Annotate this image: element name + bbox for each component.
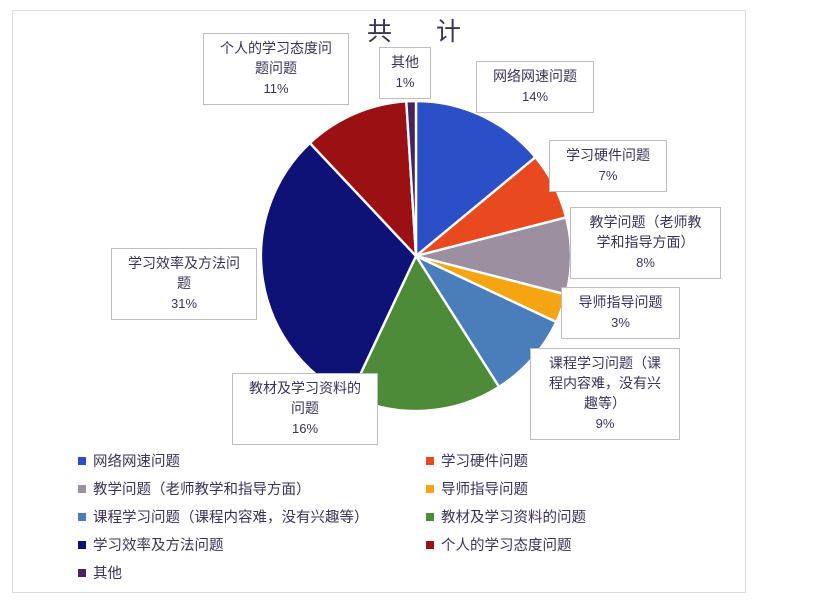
data-label-percent: 7% — [555, 166, 661, 186]
legend-row: 教学问题（老师教学和指导方面）导师指导问题 — [78, 478, 698, 501]
data-label-percent: 31% — [117, 294, 251, 314]
label-network-speed[interactable]: 网络网速问题14% — [476, 61, 594, 113]
legend-label: 学习效率及方法问题 — [93, 534, 224, 555]
label-materials[interactable]: 教材及学习资料的 问题16% — [232, 373, 378, 445]
legend-item[interactable]: 课程学习问题（课程内容难，没有兴趣等） — [78, 506, 426, 527]
data-label-text: 课程学习问题（课 程内容难，没有兴 趣等） — [549, 355, 661, 411]
data-label-percent: 1% — [385, 73, 425, 93]
legend-label: 个人的学习态度问题 — [441, 534, 572, 555]
data-label-text: 学习效率及方法问 题 — [128, 255, 240, 291]
data-label-percent: 16% — [238, 419, 372, 439]
legend-label: 教材及学习资料的问题 — [441, 506, 586, 527]
data-label-percent: 8% — [576, 253, 715, 273]
legend-label: 其他 — [93, 562, 122, 583]
legend-swatch-icon — [78, 541, 86, 549]
label-teaching[interactable]: 教学问题（老师教 学和指导方面）8% — [570, 207, 721, 279]
data-label-text: 学习硬件问题 — [566, 147, 650, 163]
legend-swatch-icon — [78, 485, 86, 493]
data-label-percent: 11% — [209, 79, 343, 99]
data-label-text: 个人的学习态度问 题问题 — [220, 40, 332, 76]
legend-swatch-icon — [78, 513, 86, 521]
data-label-percent: 9% — [536, 414, 674, 434]
data-label-percent: 3% — [567, 313, 674, 333]
pie-chart-container: 共 计 个人的学习态度问 题问题11%其他1%网络网速问题14%学习硬件问题7%… — [0, 0, 828, 608]
pie-svg — [260, 100, 572, 412]
legend-row: 其他 — [78, 562, 698, 585]
legend-swatch-icon — [78, 569, 86, 577]
legend-item[interactable]: 学习硬件问题 — [426, 450, 528, 471]
legend-swatch-icon — [426, 485, 434, 493]
chart-legend: 网络网速问题学习硬件问题教学问题（老师教学和指导方面）导师指导问题课程学习问题（… — [78, 450, 698, 590]
legend-row: 学习效率及方法问题个人的学习态度问题 — [78, 534, 698, 557]
legend-swatch-icon — [426, 457, 434, 465]
legend-item[interactable]: 学习效率及方法问题 — [78, 534, 426, 555]
data-label-text: 导师指导问题 — [579, 294, 663, 310]
legend-item[interactable]: 导师指导问题 — [426, 478, 528, 499]
label-personal-attitude[interactable]: 个人的学习态度问 题问题11% — [203, 33, 349, 105]
label-hardware[interactable]: 学习硬件问题7% — [549, 140, 667, 192]
label-course[interactable]: 课程学习问题（课 程内容难，没有兴 趣等）9% — [530, 348, 680, 440]
legend-swatch-icon — [426, 513, 434, 521]
legend-label: 导师指导问题 — [441, 478, 528, 499]
legend-swatch-icon — [426, 541, 434, 549]
data-label-text: 网络网速问题 — [493, 68, 577, 84]
label-efficiency[interactable]: 学习效率及方法问 题31% — [111, 248, 257, 320]
legend-item[interactable]: 网络网速问题 — [78, 450, 426, 471]
legend-swatch-icon — [78, 457, 86, 465]
legend-item[interactable]: 教学问题（老师教学和指导方面） — [78, 478, 426, 499]
label-mentor[interactable]: 导师指导问题3% — [561, 287, 680, 339]
legend-row: 网络网速问题学习硬件问题 — [78, 450, 698, 473]
legend-row: 课程学习问题（课程内容难，没有兴趣等）教材及学习资料的问题 — [78, 506, 698, 529]
legend-item[interactable]: 其他 — [78, 562, 426, 583]
legend-label: 网络网速问题 — [93, 450, 180, 471]
label-other[interactable]: 其他1% — [379, 47, 431, 99]
legend-label: 学习硬件问题 — [441, 450, 528, 471]
data-label-text: 教材及学习资料的 问题 — [249, 380, 361, 416]
legend-item[interactable]: 个人的学习态度问题 — [426, 534, 572, 555]
legend-label: 课程学习问题（课程内容难，没有兴趣等） — [93, 506, 369, 527]
chart-title: 共 计 — [0, 12, 828, 48]
data-label-percent: 14% — [482, 87, 588, 107]
data-label-text: 其他 — [391, 54, 419, 70]
pie-graphic — [260, 100, 572, 412]
data-label-text: 教学问题（老师教 学和指导方面） — [590, 214, 702, 250]
legend-item[interactable]: 教材及学习资料的问题 — [426, 506, 586, 527]
legend-label: 教学问题（老师教学和指导方面） — [93, 478, 311, 499]
